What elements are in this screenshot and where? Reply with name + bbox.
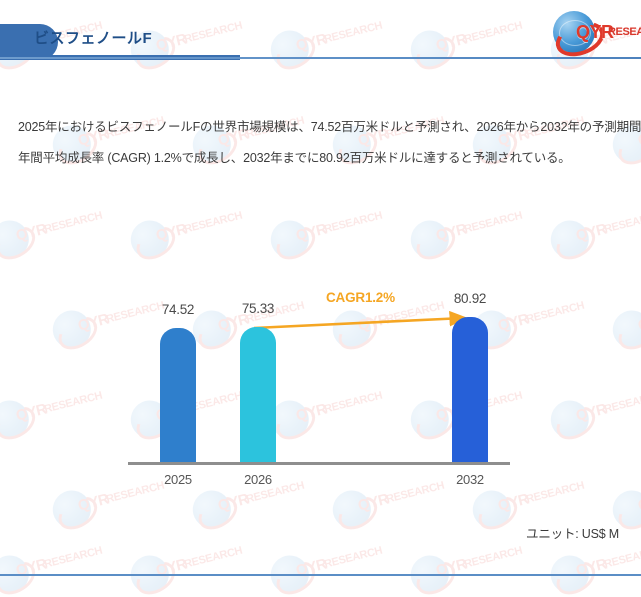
page-title: ビスフェノールF bbox=[34, 27, 152, 48]
watermark-swoosh-icon bbox=[271, 555, 321, 597]
slide-page: QYRRESEARCHQYRRESEARCHQYRRESEARCHQYRRESE… bbox=[0, 0, 641, 597]
bar-2026[interactable] bbox=[240, 327, 276, 462]
watermark-globe-icon bbox=[189, 486, 235, 532]
watermark-word-text: RESEARCH bbox=[603, 545, 641, 571]
bar-2025[interactable] bbox=[160, 328, 196, 462]
watermark-mark-text: QYR bbox=[356, 491, 390, 515]
logo-word-text: RESEARCH bbox=[608, 26, 641, 38]
bar-value-label-2025: 74.52 bbox=[138, 302, 218, 317]
watermark-mark-text: QYR bbox=[76, 491, 110, 515]
watermark-logo: QYRRESEARCH bbox=[266, 533, 381, 597]
watermark-mark-text: QYR bbox=[636, 491, 641, 515]
watermark-word-text: RESEARCH bbox=[463, 545, 523, 571]
watermark-word-text: RESEARCH bbox=[183, 545, 243, 571]
watermark-swoosh-icon bbox=[333, 490, 383, 536]
bar-value-label-2026: 75.33 bbox=[218, 301, 298, 316]
x-tick-label-2025: 2025 bbox=[138, 472, 218, 487]
watermark-swoosh-icon bbox=[0, 555, 41, 597]
bar-2032[interactable] bbox=[452, 317, 488, 462]
watermark-logo: QYRRESEARCH bbox=[126, 533, 241, 597]
watermark-globe-icon bbox=[329, 486, 375, 532]
summary-paragraph: 2025年におけるビスフェノールFの世界市場規模は、74.52百万米ドルと予測さ… bbox=[18, 112, 626, 174]
watermark-globe-icon bbox=[469, 486, 515, 532]
watermark-swoosh-icon bbox=[473, 490, 523, 536]
cagr-annotation-label: CAGR1.2% bbox=[326, 290, 395, 305]
header-divider bbox=[0, 57, 641, 59]
watermark-logo: QYRRESEARCH bbox=[406, 533, 521, 597]
summary-line-1: 2025年におけるビスフェノールFの世界市場規模は、74.52百万米ドルと予測さ… bbox=[18, 112, 626, 143]
watermark-logo: QYRRESEARCH bbox=[0, 533, 102, 597]
footer-divider bbox=[0, 574, 641, 576]
watermark-word-text: RESEARCH bbox=[43, 545, 103, 571]
watermark-word-text: RESEARCH bbox=[323, 545, 383, 571]
market-size-bar-chart: CAGR1.2% 74.52202575.33202680.922032 bbox=[0, 190, 641, 490]
watermark-mark-text: QYR bbox=[216, 491, 250, 515]
summary-line-2: 年間平均成長率 (CAGR) 1.2%で成長し、2032年までに80.92百万米… bbox=[18, 143, 626, 174]
watermark-swoosh-icon bbox=[131, 555, 181, 597]
chart-unit-label: ユニット: US$ M bbox=[526, 523, 619, 542]
slide-header: ビスフェノールF QYR RESEARCH bbox=[0, 0, 641, 72]
watermark-globe-icon bbox=[49, 486, 95, 532]
x-tick-label-2026: 2026 bbox=[218, 472, 298, 487]
qyr-research-logo: QYR RESEARCH bbox=[551, 6, 633, 60]
watermark-swoosh-icon bbox=[53, 490, 103, 536]
bar-value-label-2032: 80.92 bbox=[430, 291, 510, 306]
watermark-swoosh-icon bbox=[193, 490, 243, 536]
watermark-swoosh-icon bbox=[551, 555, 601, 597]
watermark-mark-text: QYR bbox=[496, 491, 530, 515]
cagr-arrow-icon bbox=[0, 190, 641, 490]
x-tick-label-2032: 2032 bbox=[430, 472, 510, 487]
watermark-swoosh-icon bbox=[411, 555, 461, 597]
watermark-logo: QYRRESEARCH bbox=[546, 533, 641, 597]
